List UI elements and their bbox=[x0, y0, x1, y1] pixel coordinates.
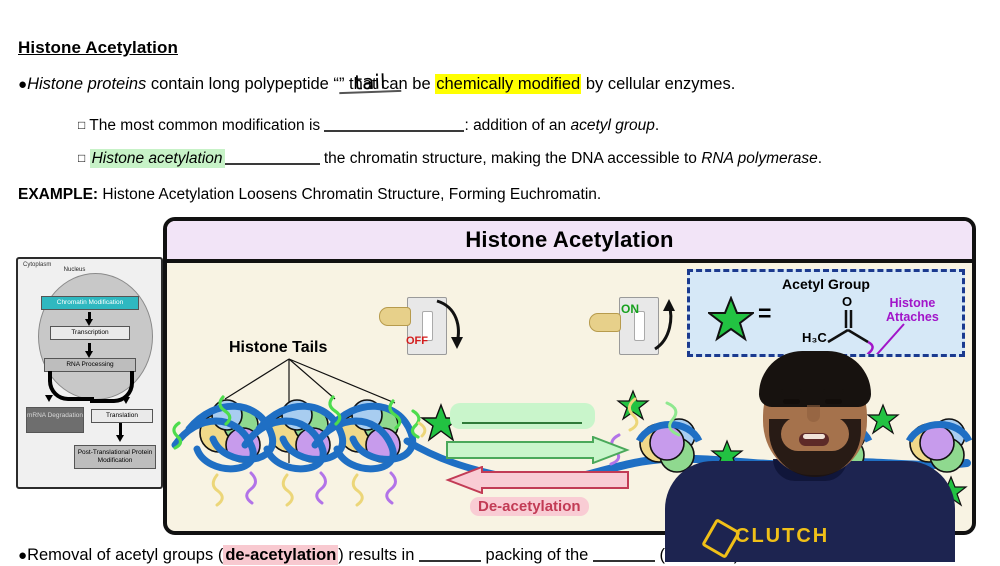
clutch-brand-text: CLUTCH bbox=[735, 525, 829, 548]
instructor-mouth bbox=[799, 433, 829, 446]
flow-box-translation: Translation bbox=[91, 409, 153, 423]
square-bullet-icon: □ bbox=[78, 151, 85, 165]
hand-icon-on bbox=[589, 313, 621, 332]
instructor-eyebrow-right bbox=[823, 389, 844, 394]
bullet-1-text-3: by cellular enzymes. bbox=[581, 75, 735, 93]
de-acetylation-label: De-acetylation bbox=[470, 497, 589, 516]
sub-2-text-1: the chromatin structure, making the DNA … bbox=[320, 150, 702, 167]
sub-1-italic: acetyl group bbox=[570, 117, 654, 134]
flow-arrow-head bbox=[122, 397, 130, 404]
histone-attaches-label: Histone Attaches bbox=[886, 296, 939, 324]
switch-off-label: OFF bbox=[406, 335, 428, 347]
bottom-text-2: ) results in bbox=[338, 546, 419, 564]
diagram-title: Histone Acetylation bbox=[465, 227, 673, 253]
sub-2-text-2: . bbox=[818, 150, 822, 167]
flow-curve-left bbox=[48, 371, 94, 401]
flow-box-mrna-degradation: mRNA Degradation bbox=[26, 407, 84, 433]
example-label: EXAMPLE: bbox=[18, 186, 98, 203]
instructor-video-overlay[interactable]: CLUTCH bbox=[655, 333, 1000, 562]
fill-in-blank-effect[interactable] bbox=[225, 163, 320, 165]
bullet-1-text-1: contain long polypeptide “ bbox=[146, 75, 339, 93]
switch-on-label: ON bbox=[621, 302, 639, 316]
flow-box-rna-processing: RNA Processing bbox=[44, 358, 136, 372]
flow-box-transcription: Transcription bbox=[50, 326, 130, 340]
handwritten-answer-tail: tail bbox=[339, 73, 402, 94]
flow-box-post-translational: Post-Translational Protein Modification bbox=[74, 445, 156, 469]
gene-expression-pathway-flowchart: Cytoplasm Nucleus Chromatin Modification… bbox=[16, 257, 163, 489]
bullet-glyph: ● bbox=[18, 76, 27, 93]
histone-tails-label: Histone Tails bbox=[229, 339, 327, 357]
acetylation-arrow-forward bbox=[445, 436, 630, 464]
histone-attaches-line-1: Histone bbox=[889, 296, 935, 310]
flow-arrow-head bbox=[85, 319, 93, 326]
sub-2-italic: RNA polymerase bbox=[701, 150, 818, 167]
instructor-hair bbox=[759, 351, 871, 407]
highlight-histone-acetylation: Histone acetylation bbox=[90, 149, 225, 168]
highlight-chemically-modified: chemically modified bbox=[435, 74, 581, 94]
note-example-line: EXAMPLE: Histone Acetylation Loosens Chr… bbox=[18, 185, 601, 205]
sub-1-text-2: : addition of an bbox=[464, 117, 570, 134]
example-text: Histone Acetylation Loosens Chromatin St… bbox=[98, 186, 601, 203]
instructor-nose bbox=[807, 405, 820, 422]
highlight-de-acetylation: de-acetylation bbox=[223, 545, 338, 565]
hand-icon-off bbox=[379, 307, 411, 326]
bullet-glyph: ● bbox=[18, 547, 27, 564]
nucleus-label: Nucleus bbox=[18, 267, 131, 273]
instructor-eyebrow-left bbox=[781, 389, 802, 394]
equals-sign: = bbox=[758, 300, 771, 327]
instructor-eye-right bbox=[825, 399, 842, 404]
switch-off-arrow-icon bbox=[431, 297, 467, 353]
histone-attaches-line-2: Attaches bbox=[886, 310, 939, 324]
fill-in-blank-acetylation-label[interactable] bbox=[450, 403, 595, 429]
note-sub-bullet-1: □ The most common modification is : addi… bbox=[78, 115, 659, 136]
note-bottom-line: ●Removal of acetyl groups (de-acetylatio… bbox=[18, 545, 739, 566]
fill-in-blank-modification[interactable] bbox=[324, 130, 464, 132]
flow-arrow-head bbox=[45, 395, 53, 402]
flow-arrow-head bbox=[85, 351, 93, 358]
bottom-text-1: Removal of acetyl groups ( bbox=[27, 546, 223, 564]
flow-box-chromatin-modification: Chromatin Modification bbox=[41, 296, 139, 310]
page-title: Histone Acetylation bbox=[18, 38, 178, 58]
acetyl-group-title: Acetyl Group bbox=[690, 276, 962, 292]
note-bullet-1: ●Histone proteins contain long polypepti… bbox=[18, 74, 735, 95]
sub-1-text-1: The most common modification is bbox=[85, 117, 324, 134]
flow-arrow-head bbox=[116, 435, 124, 442]
bullet-1-italic-1: Histone proteins bbox=[27, 75, 146, 93]
deacetylation-arrow-reverse bbox=[445, 466, 630, 494]
note-sub-bullet-2: □ Histone acetylation the chromatin stru… bbox=[78, 148, 822, 169]
instructor-eye-left bbox=[783, 399, 800, 404]
bottom-text-3: packing of the bbox=[481, 546, 593, 564]
sub-1-text-3: . bbox=[655, 117, 659, 134]
diagram-header: Histone Acetylation bbox=[167, 221, 972, 263]
